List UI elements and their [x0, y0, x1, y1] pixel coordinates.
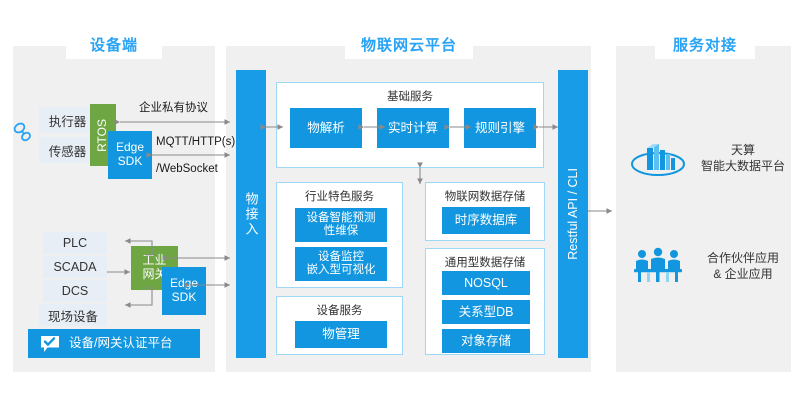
- basic-service-item-0: 物解析: [290, 108, 362, 148]
- service-entry-0-text: 天算 智能大数据平台: [697, 142, 789, 174]
- service-entry-1-line1: 合作伙伴应用: [692, 250, 794, 266]
- big-data-platform-icon: [629, 138, 687, 182]
- card-basic-service: 基础服务 物解析 实时计算 规则引擎: [276, 82, 544, 168]
- card-iot-storage: 物联网数据存储 时序数据库: [425, 182, 545, 241]
- edge-sdk-device-line1: Edge: [116, 141, 144, 155]
- general-storage-item-1: 关系型DB: [442, 300, 530, 324]
- industry-service-item-1-line1: 设备监控: [318, 251, 364, 264]
- card-iot-storage-title: 物联网数据存储: [426, 188, 544, 204]
- card-basic-service-title: 基础服务: [277, 88, 543, 104]
- basic-service-item-2: 规则引擎: [464, 108, 536, 148]
- card-industry-service-title: 行业特色服务: [277, 188, 402, 204]
- edge-sdk-gateway-line2: SDK: [172, 291, 197, 305]
- label-mqtt-protocol: MQTT/HTTP(s): [156, 136, 235, 148]
- panel-title-cloud-platform: 物联网云平台: [345, 29, 473, 59]
- industry-service-item-0-line2: 性维保: [324, 225, 359, 238]
- device-actuator: 执行器: [39, 107, 96, 133]
- field-device-scada: SCADA: [43, 256, 107, 278]
- service-entry-1-text: 合作伙伴应用 & 企业应用: [692, 250, 794, 282]
- field-device-dcs: DCS: [43, 280, 107, 302]
- label-websocket-protocol: /WebSocket: [156, 163, 218, 175]
- label-private-protocol: 企业私有协议: [139, 99, 208, 115]
- service-entry-0-line2: 智能大数据平台: [697, 158, 789, 174]
- panel-title-service-integration: 服务对接: [655, 29, 755, 59]
- industry-service-item-0-line1: 设备智能预测: [307, 212, 376, 225]
- card-device-service: 设备服务 物管理: [276, 296, 403, 355]
- panel-title-device-side: 设备端: [66, 29, 162, 59]
- general-storage-item-0: NOSQL: [442, 271, 530, 295]
- card-device-service-title: 设备服务: [277, 302, 402, 318]
- device-service-item-0: 物管理: [295, 321, 387, 348]
- device-auth-platform-label: 设备/网关认证平台: [69, 336, 172, 350]
- partners-meeting-icon: [629, 245, 687, 285]
- diagram-canvas: 设备端 物联网云平台 服务对接: [0, 0, 802, 411]
- restful-api-label: Restful API / CLI: [566, 168, 580, 260]
- iot-ingress-bar: 物接入: [236, 70, 266, 358]
- iot-storage-item-0: 时序数据库: [442, 207, 530, 234]
- basic-service-item-1: 实时计算: [377, 108, 449, 148]
- general-storage-item-2: 对象存储: [442, 329, 530, 353]
- industrial-gateway-line1: 工业: [142, 254, 166, 268]
- service-entry-0-line1: 天算: [697, 142, 789, 158]
- device-sensor: 传感器: [39, 137, 96, 163]
- chip-link-icon: [10, 118, 36, 146]
- edge-sdk-device-line2: SDK: [118, 155, 143, 169]
- service-entry-1-line2: & 企业应用: [692, 266, 794, 282]
- industry-service-item-1: 设备监控 嵌入型可视化: [295, 247, 387, 281]
- edge-sdk-device: Edge SDK: [108, 131, 152, 179]
- field-device-onsite: 现场设备: [39, 304, 107, 326]
- field-device-plc: PLC: [43, 232, 107, 254]
- restful-api-bar: Restful API / CLI: [558, 70, 588, 358]
- edge-sdk-gateway-line1: Edge: [170, 277, 198, 291]
- iot-ingress-label: 物接入: [242, 192, 261, 237]
- card-industry-service: 行业特色服务 设备智能预测 性维保 设备监控 嵌入型可视化: [276, 182, 403, 288]
- industry-service-item-1-line2: 嵌入型可视化: [307, 264, 376, 277]
- edge-sdk-gateway: Edge SDK: [162, 267, 206, 315]
- card-general-storage: 通用型数据存储 NOSQL 关系型DB 对象存储: [425, 248, 545, 355]
- card-general-storage-title: 通用型数据存储: [426, 254, 544, 270]
- device-auth-platform: 设备/网关认证平台: [28, 329, 200, 358]
- panel-service-integration: [616, 46, 791, 372]
- check-mark-icon: [40, 335, 60, 353]
- industry-service-item-0: 设备智能预测 性维保: [295, 208, 387, 242]
